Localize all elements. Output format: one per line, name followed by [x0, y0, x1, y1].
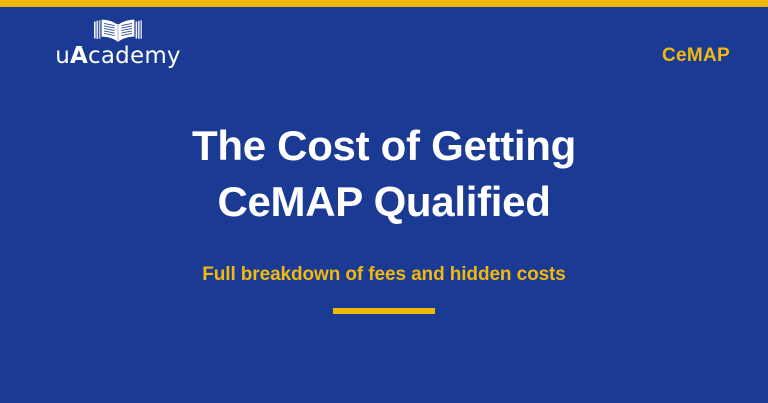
qualification-badge: CeMAP — [662, 45, 730, 67]
wordmark-accent-letter: A — [70, 43, 88, 69]
wordmark-prefix: u — [55, 43, 70, 69]
top-accent-strip — [0, 0, 768, 7]
banner-header: uAcademy CeMAP — [0, 7, 768, 93]
brand-wordmark: uAcademy — [48, 44, 188, 68]
cemap-cost-banner: uAcademy CeMAP The Cost of Getting CeMAP… — [0, 0, 768, 403]
accent-underline — [333, 308, 435, 314]
brand-logo[interactable]: uAcademy — [48, 17, 188, 68]
open-book-icon — [93, 17, 143, 43]
page-title: The Cost of Getting CeMAP Qualified — [0, 118, 768, 230]
page-title-line-1: The Cost of Getting — [0, 118, 768, 174]
hero-section: The Cost of Getting CeMAP Qualified Full… — [0, 118, 768, 314]
page-subtitle: Full breakdown of fees and hidden costs — [0, 264, 768, 286]
page-title-line-2: CeMAP Qualified — [0, 174, 768, 230]
wordmark-suffix: cademy — [88, 43, 181, 69]
